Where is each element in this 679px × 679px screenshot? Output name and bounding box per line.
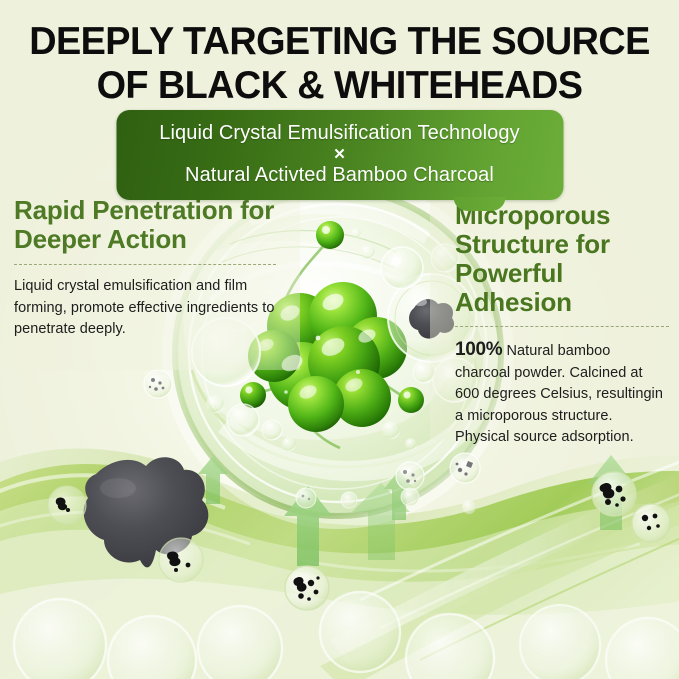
- speckled-sphere: [341, 492, 357, 508]
- right-panel-heading: Microporous Structure for Powerful Adhes…: [455, 201, 669, 317]
- speckled-sphere: [396, 462, 424, 490]
- badge-cross-icon: ✕: [126, 147, 553, 162]
- right-panel-body: 100% Natural bamboo charcoal powder. Cal…: [455, 339, 669, 449]
- right-panel-divider: [455, 326, 669, 327]
- blackhead-sphere: [285, 566, 329, 610]
- left-panel-body: Liquid crystal emulsification and film f…: [14, 276, 276, 341]
- title-line-1: DEEPLY TARGETING THE SOURCE: [10, 20, 669, 64]
- badge-line-2: Natural Activted Bamboo Charcoal: [126, 163, 553, 188]
- poster-root: DEEPLY TARGETING THE SOURCE OF BLACK & W…: [0, 0, 679, 679]
- badge-line-1: Liquid Crystal Emulsification Technology: [126, 121, 553, 146]
- left-feature-panel: Rapid Penetration for Deeper Action Liqu…: [14, 196, 276, 341]
- blackhead-sphere: [159, 538, 203, 582]
- speckled-sphere: [462, 500, 476, 514]
- speckled-sphere: [144, 370, 172, 398]
- percent-value: 100%: [455, 339, 502, 360]
- speckled-sphere: [401, 488, 419, 506]
- blackhead-sphere: [592, 472, 636, 516]
- molecule-sphere-small: [398, 387, 424, 413]
- molecule-sphere-small: [316, 221, 344, 249]
- badge-body: Liquid Crystal Emulsification Technology…: [116, 110, 563, 200]
- badge-tail-notch: [453, 197, 505, 211]
- page-title: DEEPLY TARGETING THE SOURCE OF BLACK & W…: [0, 20, 679, 108]
- right-feature-panel: Microporous Structure for Powerful Adhes…: [455, 201, 669, 449]
- left-panel-heading: Rapid Penetration for Deeper Action: [14, 196, 276, 254]
- blackhead-sphere: [48, 486, 86, 524]
- blackhead-sphere: [632, 504, 670, 542]
- technology-badge: Liquid Crystal Emulsification Technology…: [116, 110, 563, 200]
- title-line-2: OF BLACK & WHITEHEADS: [10, 64, 669, 108]
- left-panel-divider: [14, 264, 276, 265]
- speckled-sphere: [450, 453, 480, 483]
- speckled-sphere: [296, 488, 316, 508]
